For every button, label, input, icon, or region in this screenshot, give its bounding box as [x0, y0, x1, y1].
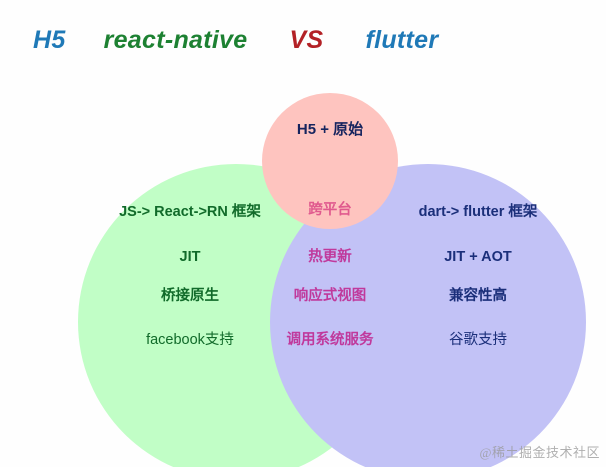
watermark: @稀土掘金技术社区	[480, 442, 600, 461]
title-word-vs: VS	[290, 26, 324, 55]
title-bar: H5 react-native VS flutter	[0, 18, 606, 62]
title-word-h5: H5	[33, 26, 66, 55]
venn-diagram: H5 + 原始 JS-> React->RN 框架 JIT 桥接原生 faceb…	[0, 80, 606, 467]
title-word-react-native: react-native	[104, 26, 248, 55]
venn-circles-svg	[0, 80, 606, 467]
title-word-flutter: flutter	[365, 26, 438, 55]
h5-native-circle-shape	[262, 93, 398, 229]
